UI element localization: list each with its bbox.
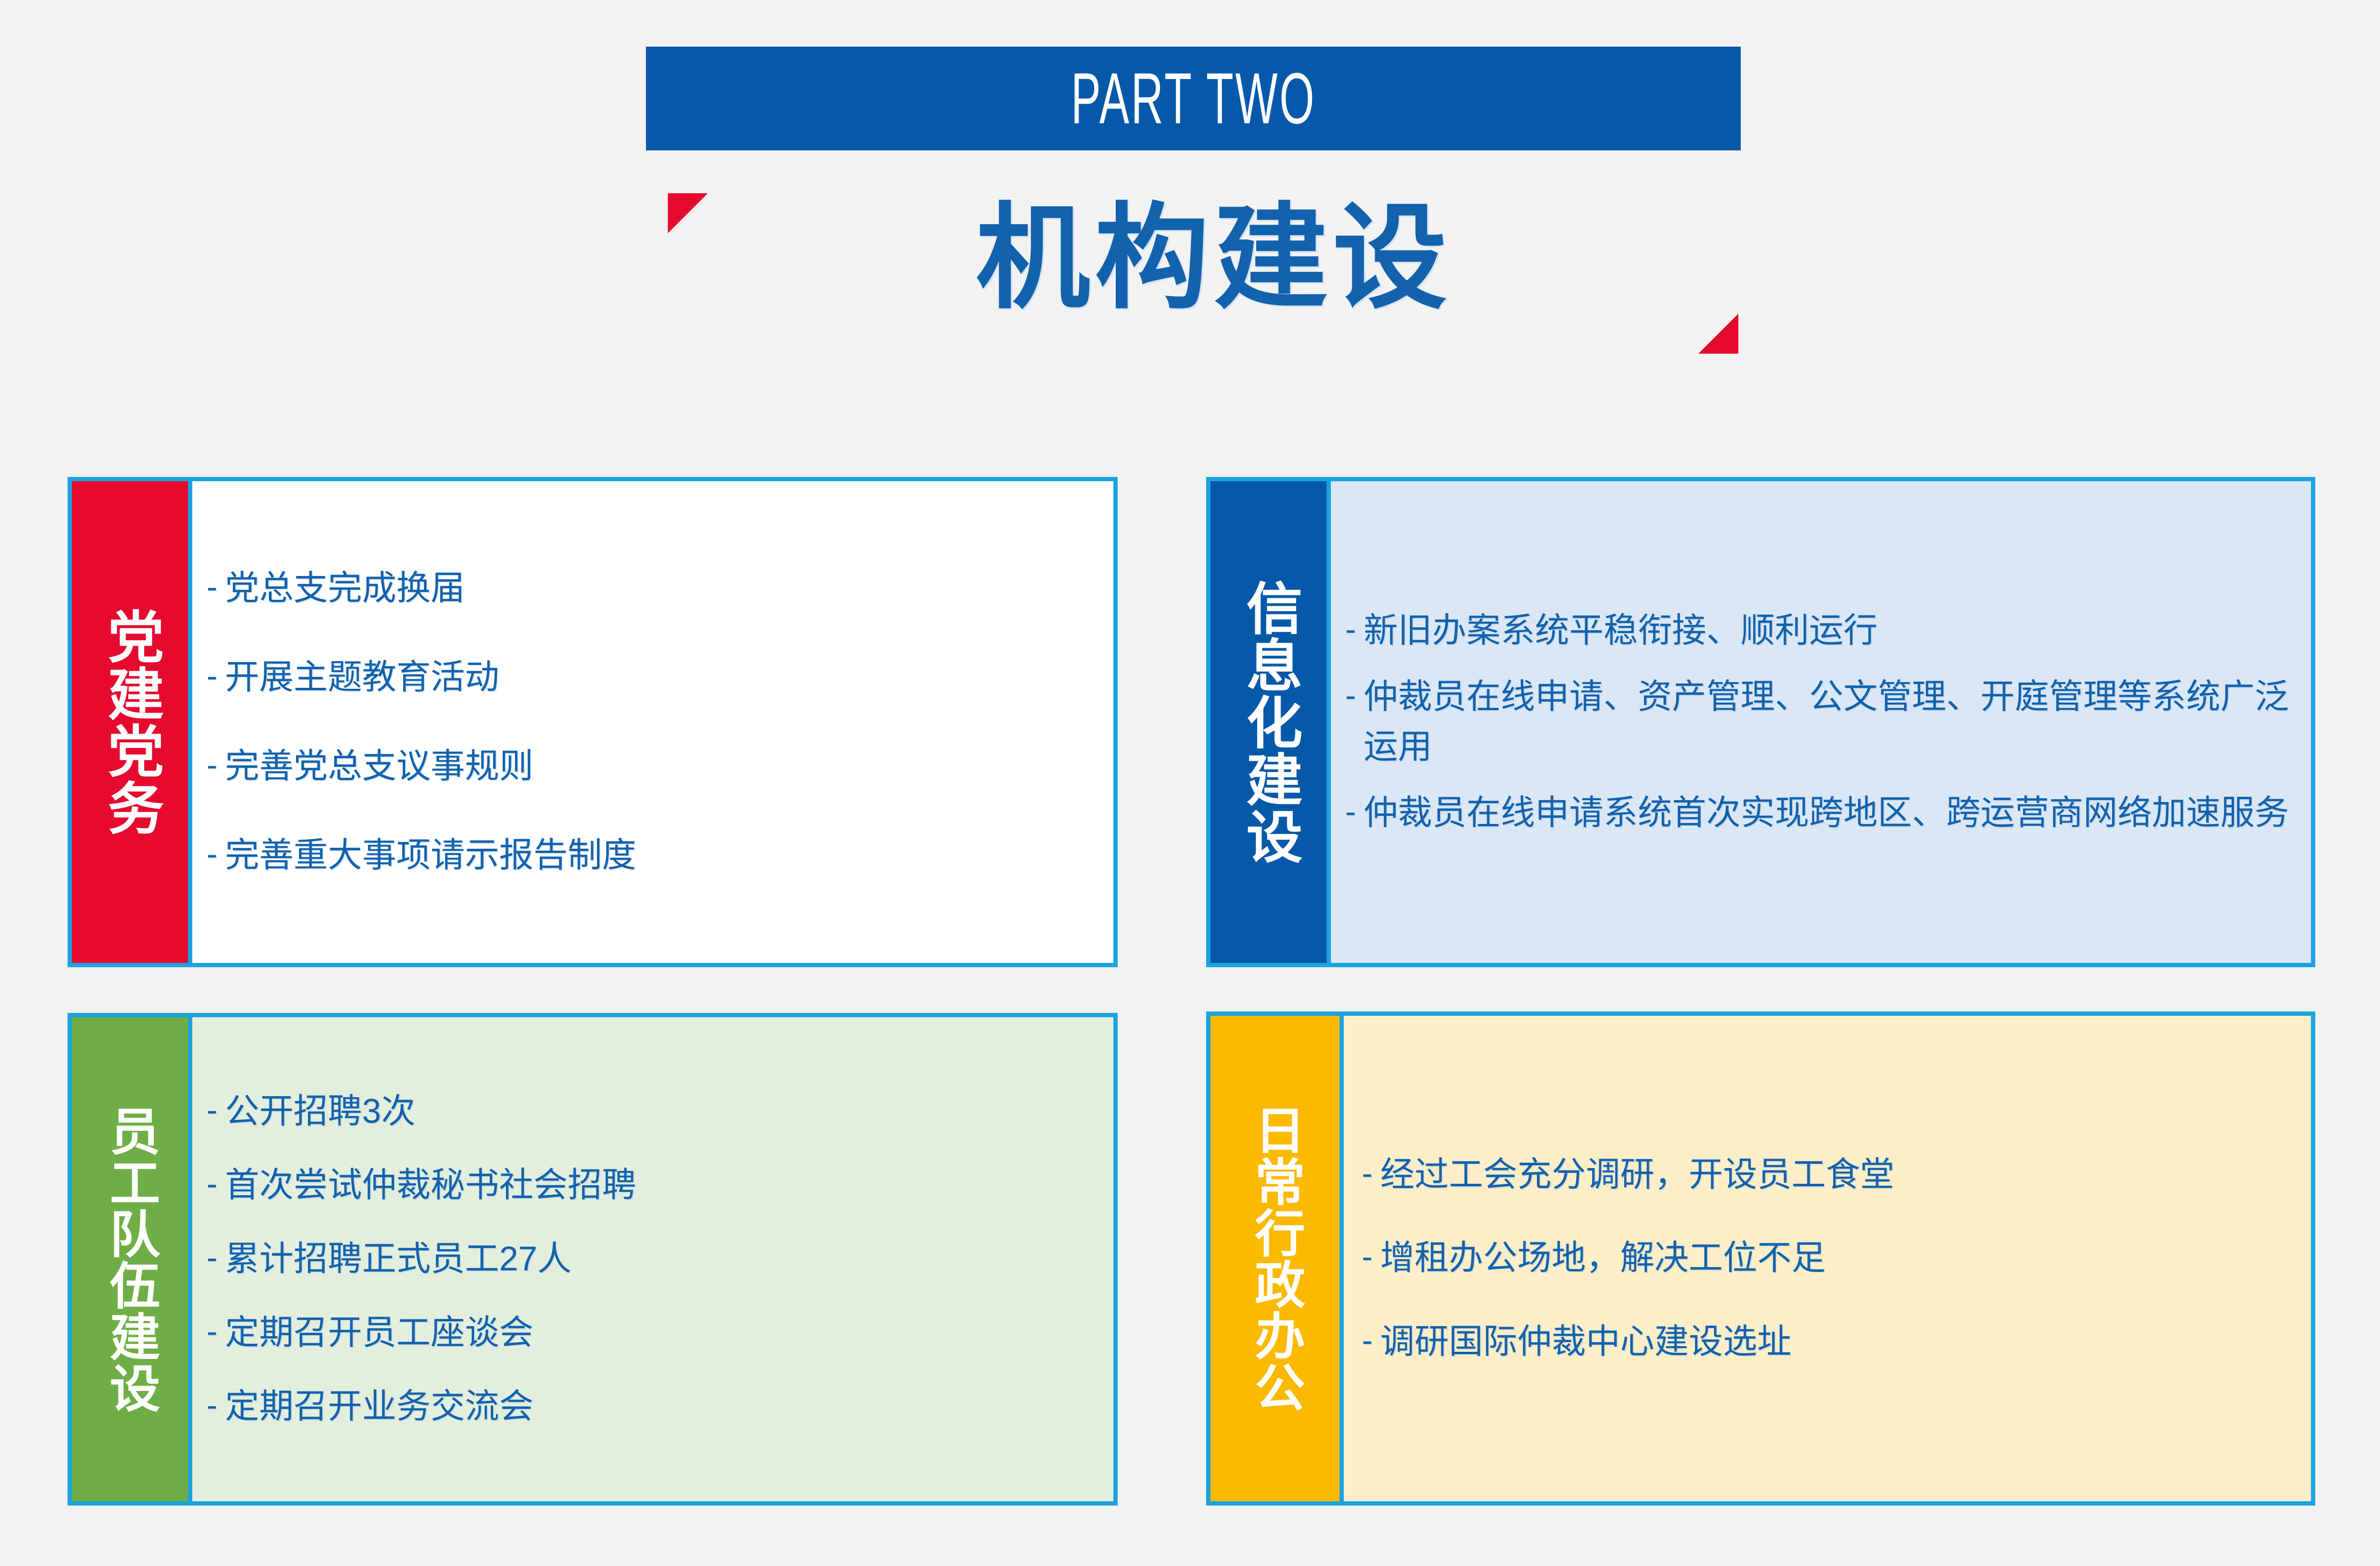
list-item: - 公开招聘3次 xyxy=(207,1087,1094,1137)
card-body-staff-team: - 公开招聘3次 - 首次尝试仲裁秘书社会招聘 - 累计招聘正式员工27人 - … xyxy=(192,1017,1113,1501)
card-body-daily-administration: - 经过工会充分调研，开设员工食堂 - 增租办公场地，解决工位不足 - 调研国际… xyxy=(1344,1016,2311,1501)
dash-bullet-icon: - xyxy=(207,1087,218,1134)
list-item: - 经过工会充分调研，开设员工食堂 xyxy=(1362,1150,2291,1200)
list-item-text: 新旧办案系统平稳衔接、顺利运行 xyxy=(1364,606,2291,656)
list-item: - 累计招聘正式员工27人 xyxy=(207,1234,1094,1284)
card-tab-label: 日常行政办公 xyxy=(1249,1104,1301,1413)
list-item: - 定期召开员工座谈会 xyxy=(207,1308,1094,1358)
list-item: - 新旧办案系统平稳衔接、顺利运行 xyxy=(1345,606,2291,656)
list-item-text: 定期召开员工座谈会 xyxy=(225,1308,1094,1358)
card-staff-team: 员工队伍建设 - 公开招聘3次 - 首次尝试仲裁秘书社会招聘 - 累计招聘正式员… xyxy=(68,1013,1118,1506)
list-item-text: 定期召开业务交流会 xyxy=(225,1382,1094,1432)
card-tab-label: 党建党务 xyxy=(100,608,159,836)
list-item-text: 完善重大事项请示报告制度 xyxy=(225,831,1094,881)
list-item-text: 仲裁员在线申请系统首次实现跨地区、跨运营商网络加速服务 xyxy=(1364,788,2291,838)
card-informatization: 信息化建设 - 新旧办案系统平稳衔接、顺利运行 - 仲裁员在线申请、资产管理、公… xyxy=(1206,477,2315,967)
dash-bullet-icon: - xyxy=(1345,606,1356,653)
bullet-list: - 党总支完成换届 - 开展主题教育活动 - 完善党总支议事规则 - 完善重大事… xyxy=(207,564,1094,881)
bullet-list: - 新旧办案系统平稳衔接、顺利运行 - 仲裁员在线申请、资产管理、公文管理、开庭… xyxy=(1345,606,2291,838)
list-item-text: 累计招聘正式员工27人 xyxy=(225,1234,1094,1284)
card-daily-administration: 日常行政办公 - 经过工会充分调研，开设员工食堂 - 增租办公场地，解决工位不足… xyxy=(1206,1011,2315,1506)
card-tab-daily-administration: 日常行政办公 xyxy=(1210,1016,1344,1501)
list-item: - 增租办公场地，解决工位不足 xyxy=(1362,1233,2291,1283)
list-item-text: 开展主题教育活动 xyxy=(225,653,1094,703)
card-tab-party-affairs: 党建党务 xyxy=(72,481,192,963)
card-party-affairs: 党建党务 - 党总支完成换届 - 开展主题教育活动 - 完善党总支议事规则 - xyxy=(68,477,1118,967)
list-item: - 开展主题教育活动 xyxy=(207,653,1094,703)
dash-bullet-icon: - xyxy=(207,1160,218,1208)
dash-bullet-icon: - xyxy=(207,1234,218,1281)
card-grid: 党建党务 - 党总支完成换届 - 开展主题教育活动 - 完善党总支议事规则 - xyxy=(0,0,2380,1566)
dash-bullet-icon: - xyxy=(1345,788,1356,835)
list-item-text: 仲裁员在线申请、资产管理、公文管理、开庭管理等系统广泛运用 xyxy=(1364,672,2291,772)
list-item: - 定期召开业务交流会 xyxy=(207,1382,1094,1432)
list-item: - 仲裁员在线申请系统首次实现跨地区、跨运营商网络加速服务 xyxy=(1345,788,2291,838)
dash-bullet-icon: - xyxy=(207,742,218,789)
dash-bullet-icon: - xyxy=(207,653,218,700)
list-item: - 调研国际仲裁中心建设选址 xyxy=(1362,1317,2291,1367)
list-item-text: 公开招聘3次 xyxy=(225,1087,1094,1137)
list-item-text: 党总支完成换届 xyxy=(225,564,1094,614)
list-item: - 完善党总支议事规则 xyxy=(207,742,1094,792)
list-item: - 完善重大事项请示报告制度 xyxy=(207,831,1094,881)
list-item: - 党总支完成换届 xyxy=(207,564,1094,614)
list-item: - 仲裁员在线申请、资产管理、公文管理、开庭管理等系统广泛运用 xyxy=(1345,672,2291,772)
card-body-informatization: - 新旧办案系统平稳衔接、顺利运行 - 仲裁员在线申请、资产管理、公文管理、开庭… xyxy=(1331,481,2311,963)
list-item-text: 调研国际仲裁中心建设选址 xyxy=(1380,1317,2291,1367)
card-tab-informatization: 信息化建设 xyxy=(1210,481,1331,963)
card-tab-label: 员工队伍建设 xyxy=(103,1105,156,1414)
dash-bullet-icon: - xyxy=(207,1308,218,1355)
list-item-text: 经过工会充分调研，开设员工食堂 xyxy=(1380,1150,2291,1200)
dash-bullet-icon: - xyxy=(1345,672,1356,719)
list-item: - 首次尝试仲裁秘书社会招聘 xyxy=(207,1160,1094,1210)
dash-bullet-icon: - xyxy=(1362,1150,1373,1197)
dash-bullet-icon: - xyxy=(1362,1233,1373,1280)
bullet-list: - 经过工会充分调研，开设员工食堂 - 增租办公场地，解决工位不足 - 调研国际… xyxy=(1362,1150,2291,1367)
dash-bullet-icon: - xyxy=(1362,1317,1373,1364)
card-tab-staff-team: 员工队伍建设 xyxy=(72,1017,192,1501)
dash-bullet-icon: - xyxy=(207,831,218,878)
card-body-party-affairs: - 党总支完成换届 - 开展主题教育活动 - 完善党总支议事规则 - 完善重大事… xyxy=(192,481,1113,963)
card-tab-label: 信息化建设 xyxy=(1239,579,1298,865)
dash-bullet-icon: - xyxy=(207,1382,218,1429)
list-item-text: 增租办公场地，解决工位不足 xyxy=(1380,1233,2291,1283)
dash-bullet-icon: - xyxy=(207,564,218,611)
bullet-list: - 公开招聘3次 - 首次尝试仲裁秘书社会招聘 - 累计招聘正式员工27人 - … xyxy=(207,1087,1094,1432)
list-item-text: 完善党总支议事规则 xyxy=(225,742,1094,792)
list-item-text: 首次尝试仲裁秘书社会招聘 xyxy=(225,1160,1094,1210)
